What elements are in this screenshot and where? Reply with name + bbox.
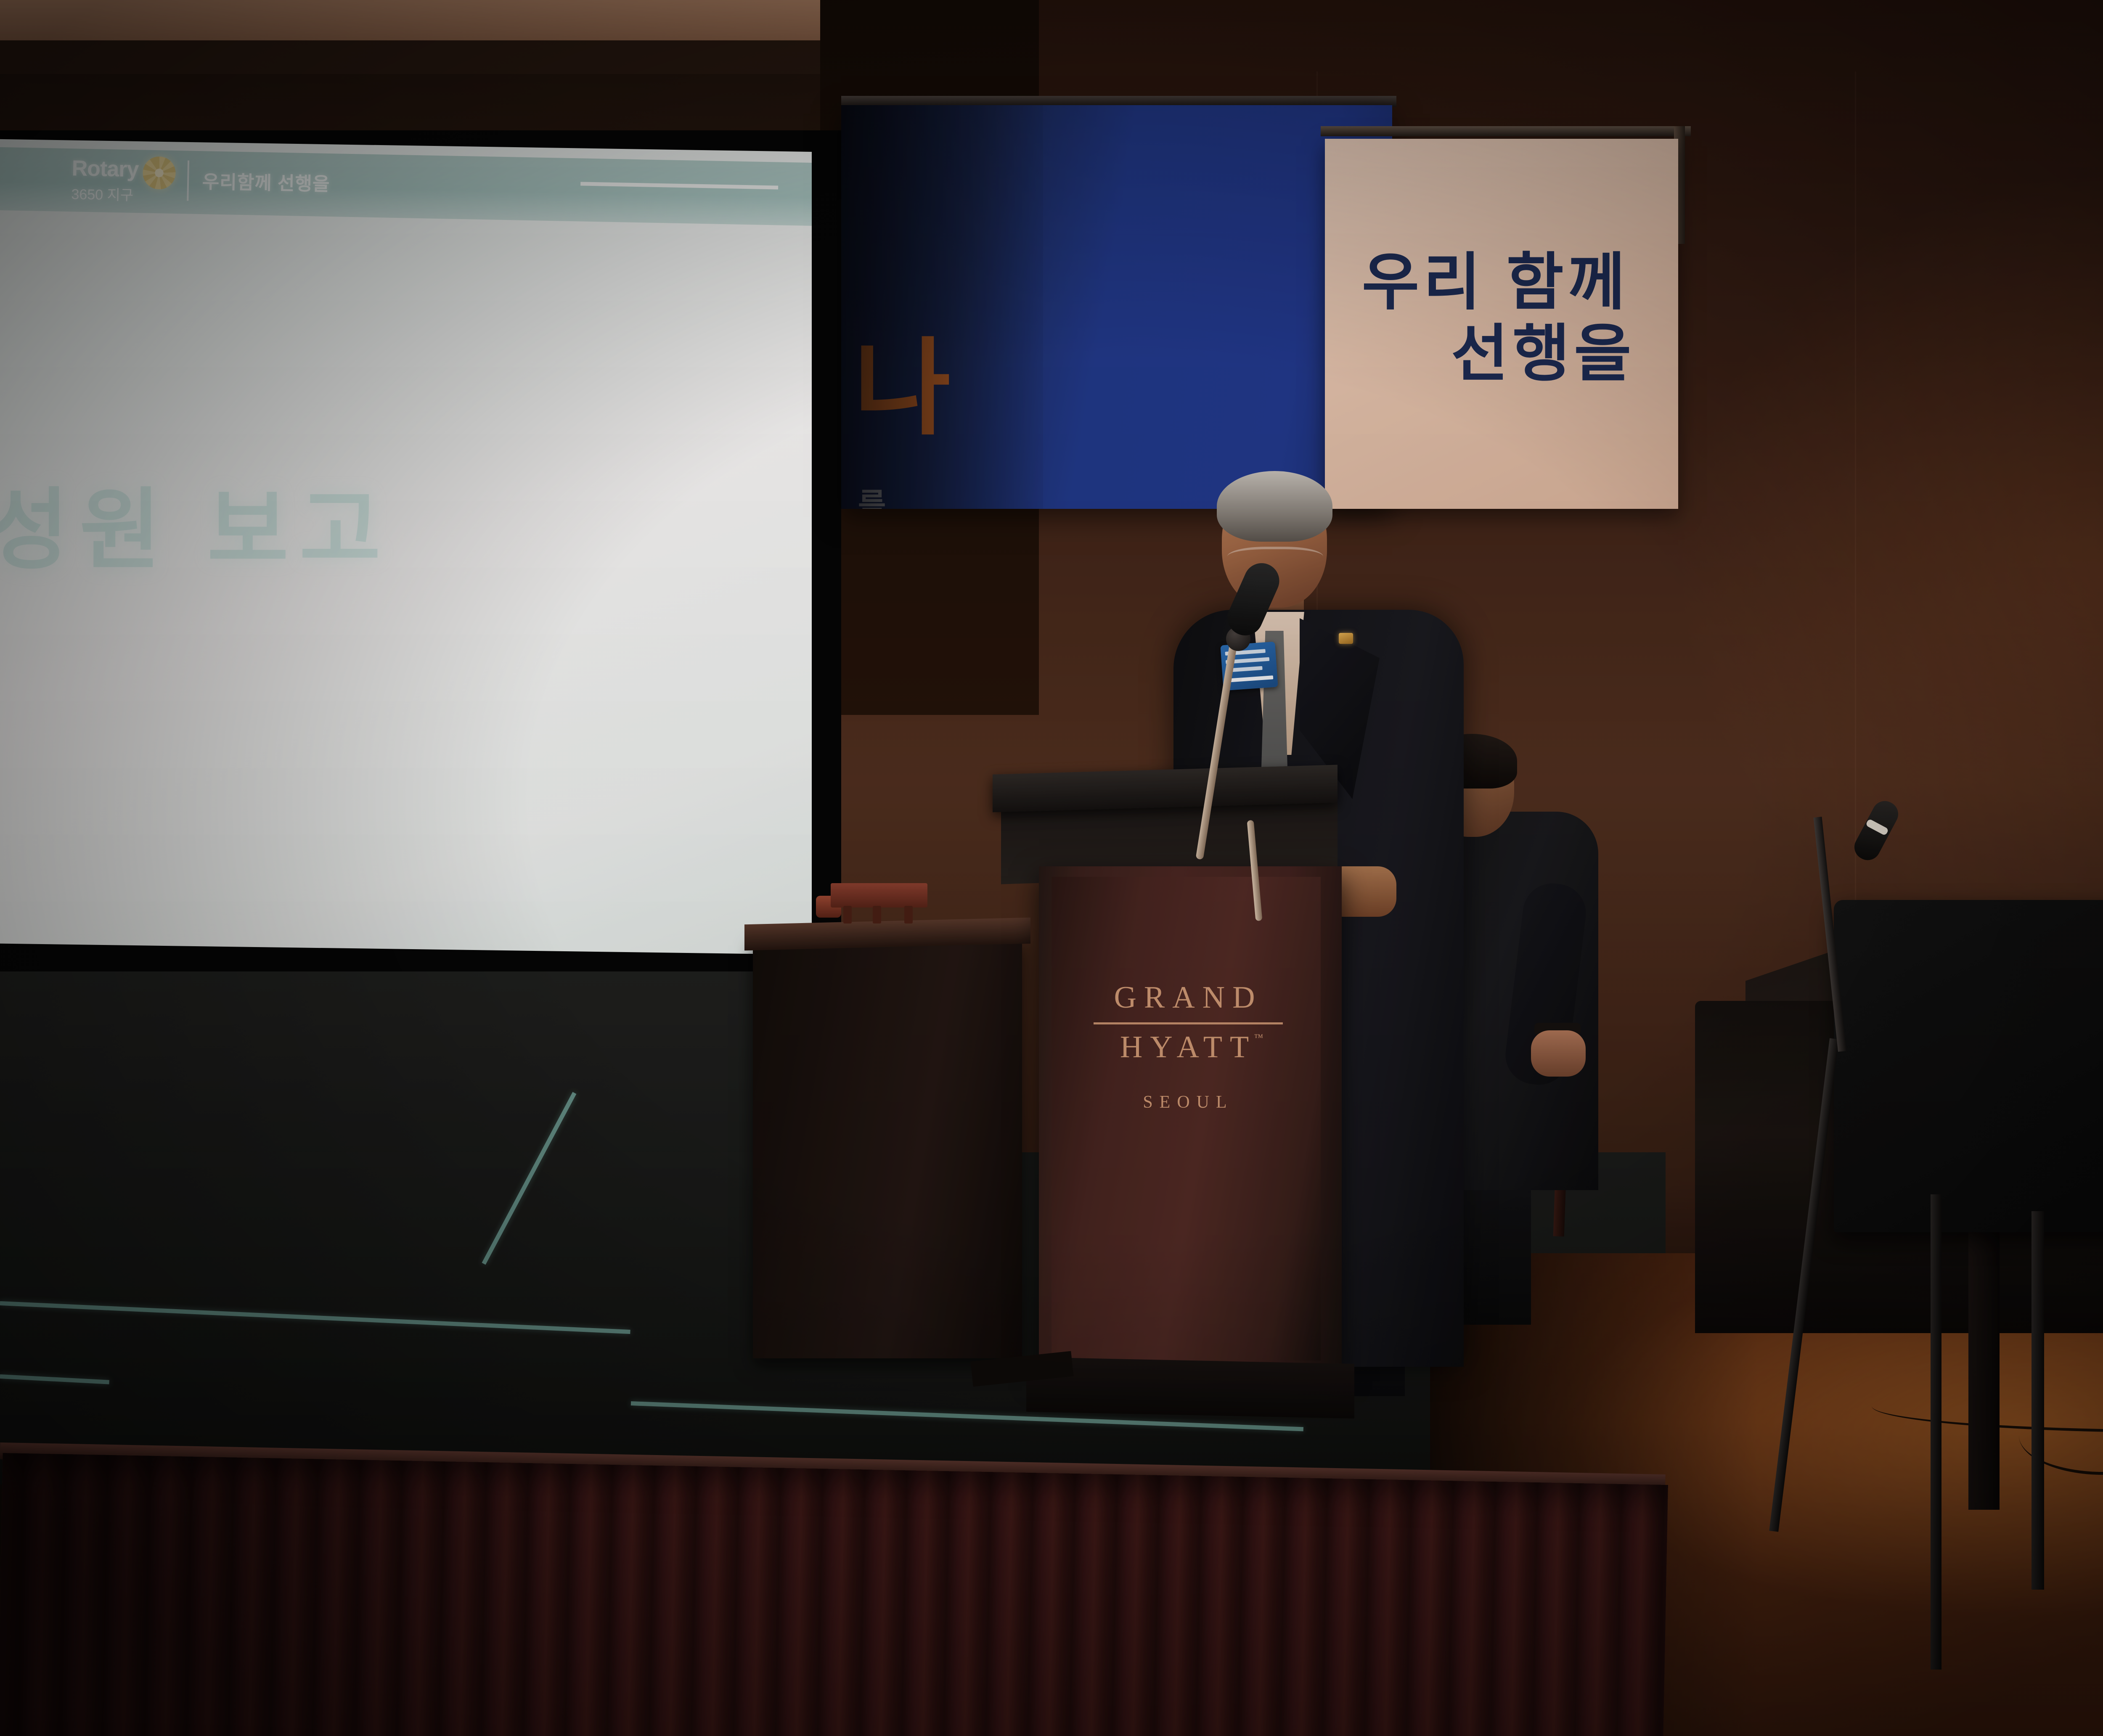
rotary-tagline-text: 우리함께 선행을 [202, 167, 330, 196]
rotary-wheel-icon [142, 156, 175, 189]
podium-brand-lockup: GRAND HYATT™ SEOUL [1077, 980, 1300, 1112]
ceiling-soffit-left [0, 40, 866, 74]
eyeglasses-icon [1227, 547, 1323, 571]
mic-stand [1931, 1194, 1941, 1670]
slide-header-bar: Rotary 3650 지구 우리함께 선행을 [0, 146, 812, 226]
gavel-block [831, 883, 927, 908]
podium-brand-line1: GRAND [1077, 980, 1300, 1016]
lockup-divider [187, 160, 189, 201]
music-stand-panel [1834, 900, 2103, 1232]
blue-banner-shadow [841, 105, 1043, 509]
podium-brand-line3: SEOUL [1077, 1092, 1300, 1112]
podium-front-panel [1051, 877, 1321, 1360]
side-table-left [753, 938, 1022, 1358]
podium-brand-line2: HYATT™ [1120, 1029, 1256, 1065]
podium-brand-line2-text: HYATT [1120, 1030, 1256, 1064]
trademark-icon: ™ [1254, 1032, 1271, 1043]
rotary-lapel-pin-icon [1339, 633, 1353, 644]
event-photo-scene: Rotary 3650 지구 우리함께 선행을 성원 보고 미나 름 우리 함께… [0, 0, 2103, 1736]
rotary-district-text: 3650 지구 [71, 183, 138, 204]
speaker-hair [1217, 471, 1332, 542]
slide-header-rule [580, 182, 778, 189]
cream-banner-rod [1321, 126, 1691, 136]
blue-banner: 미나 름 [841, 105, 1392, 509]
music-stand-pole [2031, 1211, 2044, 1590]
cream-banner: 우리 함께 선행을 [1325, 139, 1678, 509]
gavel-block-leg [904, 906, 913, 924]
podium-base [1026, 1357, 1354, 1418]
piano-leg [1968, 1207, 2000, 1510]
rotary-brand-text: Rotary [72, 157, 139, 180]
podium-brand-rule [1094, 1022, 1283, 1024]
gavel-block-leg [843, 906, 852, 924]
rotary-lockup: Rotary 3650 지구 우리함께 선행을 [71, 157, 330, 208]
assistant-hand [1531, 1030, 1586, 1077]
projection-screen: Rotary 3650 지구 우리함께 선행을 성원 보고 [0, 139, 812, 955]
stage-skirt-shadow [0, 1453, 591, 1736]
badge-name-line [1227, 675, 1273, 683]
slide-headline: 성원 보고 [0, 458, 392, 586]
cream-banner-line2: 선행을 [1451, 303, 1635, 393]
gavel-block-leg [873, 906, 881, 924]
